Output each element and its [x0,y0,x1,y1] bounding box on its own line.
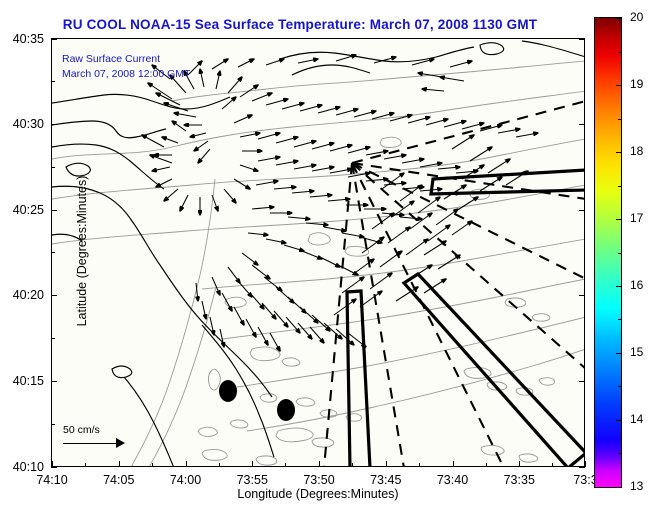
ytick-label-1: 40:15 [13,374,44,388]
xtick-minor [152,463,153,467]
velocity-scale-legend: 50 cm/s [63,424,125,448]
xtick-label-7: 73:35 [504,473,535,487]
right-arrow-icon [63,438,125,448]
ytick-right [579,295,585,296]
cbar-label-19: 19 [630,77,643,91]
xtick-minor [219,463,220,467]
ytick-1 [51,381,57,382]
xtick-label-0: 74:10 [36,473,67,487]
cbar-label-17: 17 [630,211,643,225]
xtick-label-3: 73:55 [237,473,268,487]
temperature-colorbar [594,17,622,488]
ytick-minor [51,252,55,253]
xtick-7 [519,461,520,467]
xtick-minor [85,463,86,467]
cbar-label-14: 14 [630,412,643,426]
cbar-tick-minor [618,186,622,187]
ytick-right [579,210,585,211]
ytick-label-5: 40:35 [13,32,44,46]
xtick-label-6: 73:40 [437,473,468,487]
ytick-label-3: 40:25 [13,203,44,217]
xtick-4 [319,461,320,467]
cbar-tick-minor [618,319,622,320]
cbar-label-16: 16 [630,278,643,292]
xtick-minor [285,463,286,467]
xtick-2 [186,461,187,467]
ytick-3 [51,210,57,211]
cbar-tick [616,219,622,220]
map-axes: Raw Surface Current March 07, 2008 12:00… [51,38,585,467]
y-axis-title: Latitude (Degrees:Minutes) [75,131,89,371]
xtick-1 [119,461,120,467]
ytick-right [579,39,585,40]
cbar-tick [616,152,622,153]
ytick-right [579,467,585,468]
ytick-minor [51,81,55,82]
annotation-line-1: Raw Surface Current [62,52,160,66]
cbar-tick [616,353,622,354]
cbar-tick-minor [618,119,622,120]
cbar-tick-minor [618,453,622,454]
ytick-label-2: 40:20 [13,288,44,302]
xtick-5 [386,461,387,467]
ytick-0 [51,467,57,468]
ytick-5 [51,39,57,40]
cbar-label-13: 13 [630,479,643,493]
velocity-scale-label: 50 cm/s [63,424,125,436]
cbar-tick [616,18,622,19]
map-canvas [52,39,584,466]
cbar-tick [616,487,622,488]
sst-figure: RU COOL NOAA-15 Sea Surface Temperature:… [0,0,651,518]
x-axis-title: Longitude (Degrees:Minutes) [51,487,585,501]
xtick-3 [252,461,253,467]
xtick-minor [552,463,553,467]
ytick-label-4: 40:30 [13,117,44,131]
cbar-label-18: 18 [630,144,643,158]
xtick-6 [453,461,454,467]
annotation-line-2: March 07, 2008 12:00 GMT [62,67,190,81]
ytick-4 [51,124,57,125]
xtick-label-4: 73:50 [303,473,334,487]
cbar-tick-minor [618,386,622,387]
xtick-minor [486,463,487,467]
cbar-label-20: 20 [630,10,643,24]
station-markers [219,380,295,421]
ytick-minor [51,167,55,168]
ytick-right [579,124,585,125]
map-graphics [52,39,584,466]
ytick-minor [51,338,55,339]
xtick-label-1: 74:05 [103,473,134,487]
cbar-tick-minor [618,253,622,254]
ytick-right [579,381,585,382]
cbar-tick [616,85,622,86]
figure-title: RU COOL NOAA-15 Sea Surface Temperature:… [0,17,600,32]
xtick-8 [585,461,586,467]
xtick-label-5: 73:45 [370,473,401,487]
xtick-label-2: 74:00 [170,473,201,487]
ytick-minor [51,424,55,425]
ytick-label-0: 40:10 [13,460,44,474]
cbar-tick [616,420,622,421]
surface-current-vectors [142,55,538,351]
xtick-minor [352,463,353,467]
xtick-minor [419,463,420,467]
ytick-2 [51,295,57,296]
cbar-tick-minor [618,52,622,53]
cbar-label-15: 15 [630,345,643,359]
cbar-tick [616,286,622,287]
